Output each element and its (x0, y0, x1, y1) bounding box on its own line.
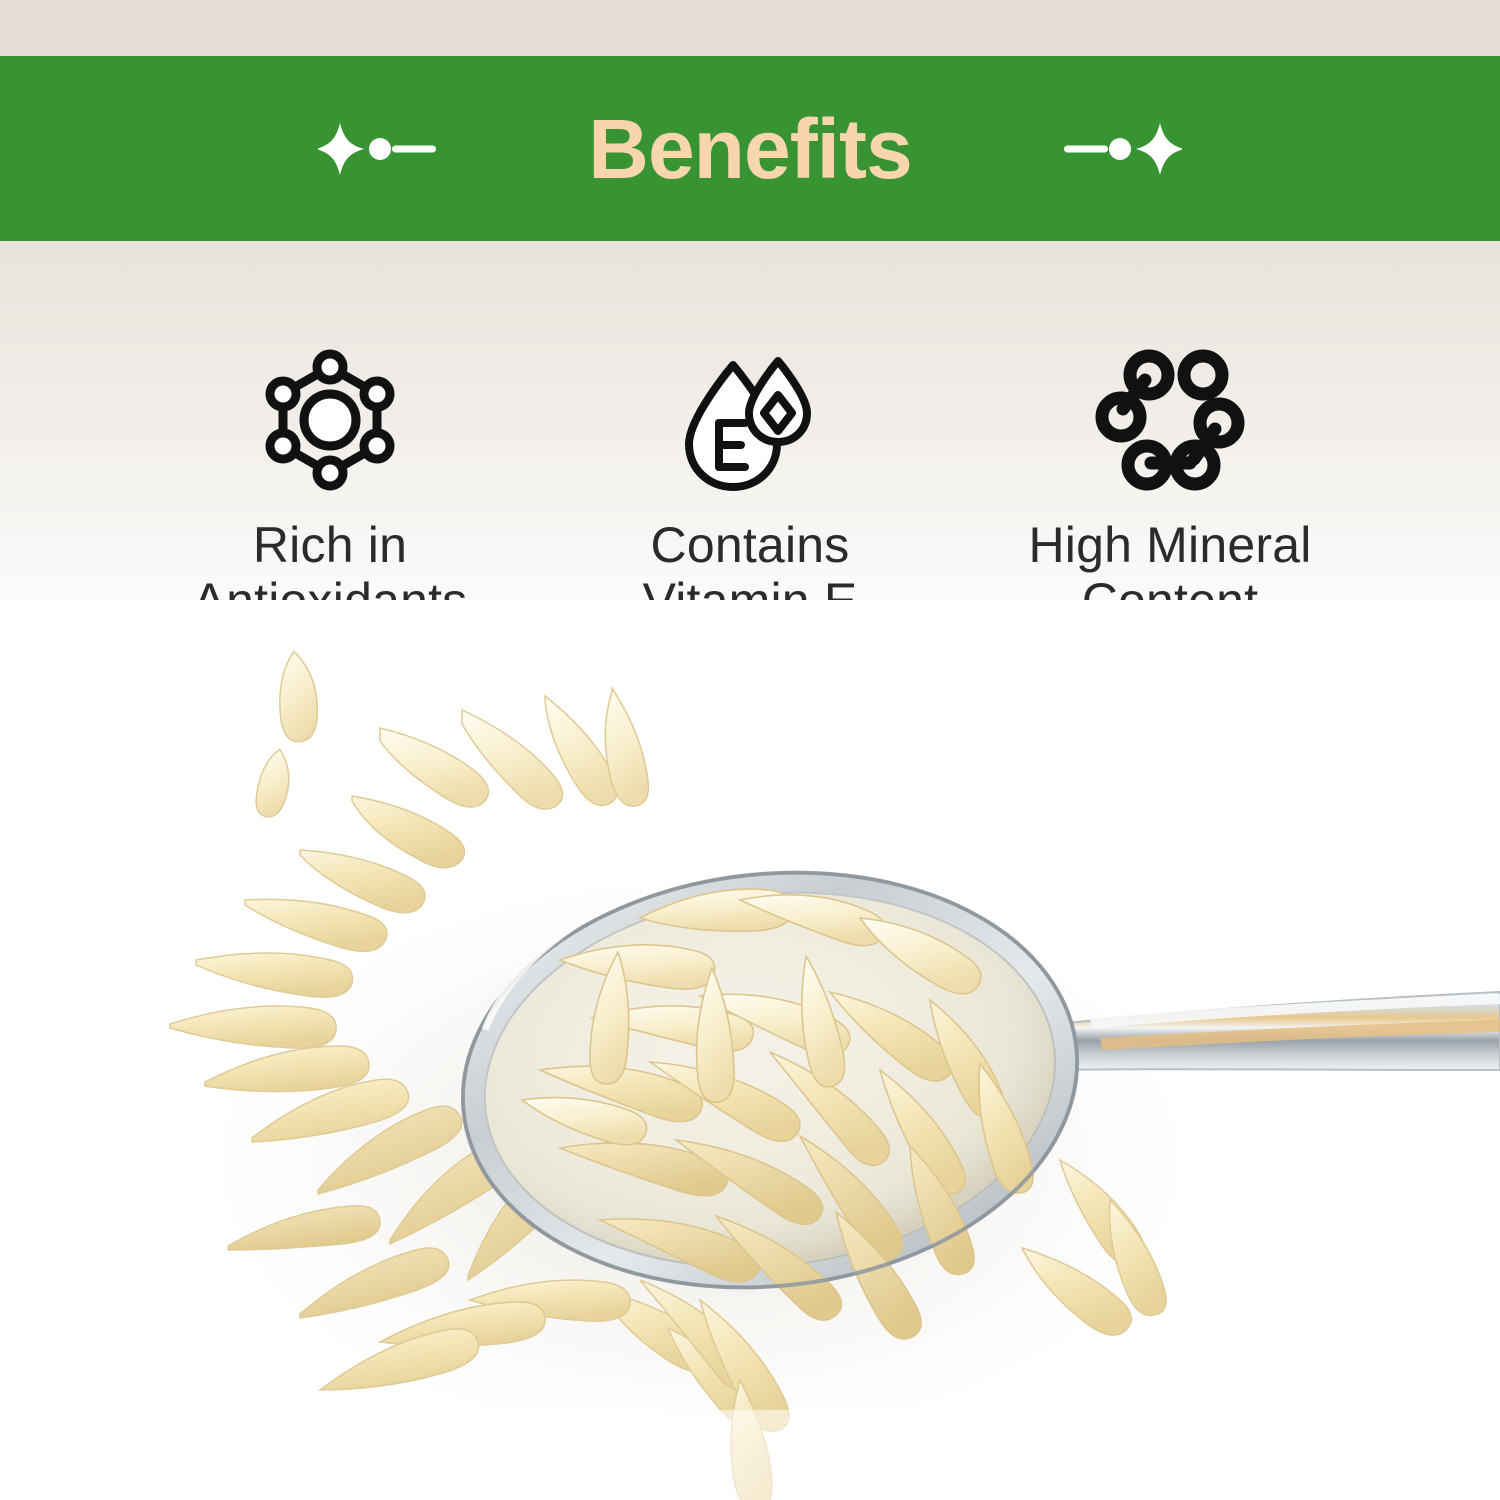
feature-high-mineral-content: High Mineral Content (960, 345, 1380, 629)
vitamin-e-droplet-icon (675, 345, 825, 495)
product-photo (0, 600, 1500, 1500)
mineral-ring-cluster-icon (1095, 345, 1245, 495)
sparkle-dot-line-ornament-left (318, 119, 438, 179)
feature-contains-vitamin-e: Contains Vitamin E (540, 345, 960, 629)
banner: Benefits (0, 56, 1500, 241)
hexagon-molecule-icon (255, 345, 405, 495)
banner-inner: Benefits (0, 107, 1500, 191)
infographic-page: Benefits (0, 0, 1500, 1500)
top-strip (0, 0, 1500, 56)
features-row: Rich in Antioxidants (0, 345, 1500, 629)
line-dot-sparkle-ornament-right (1062, 119, 1182, 179)
page-title: Benefits (588, 107, 911, 191)
feature-rich-in-antioxidants: Rich in Antioxidants (120, 345, 540, 629)
